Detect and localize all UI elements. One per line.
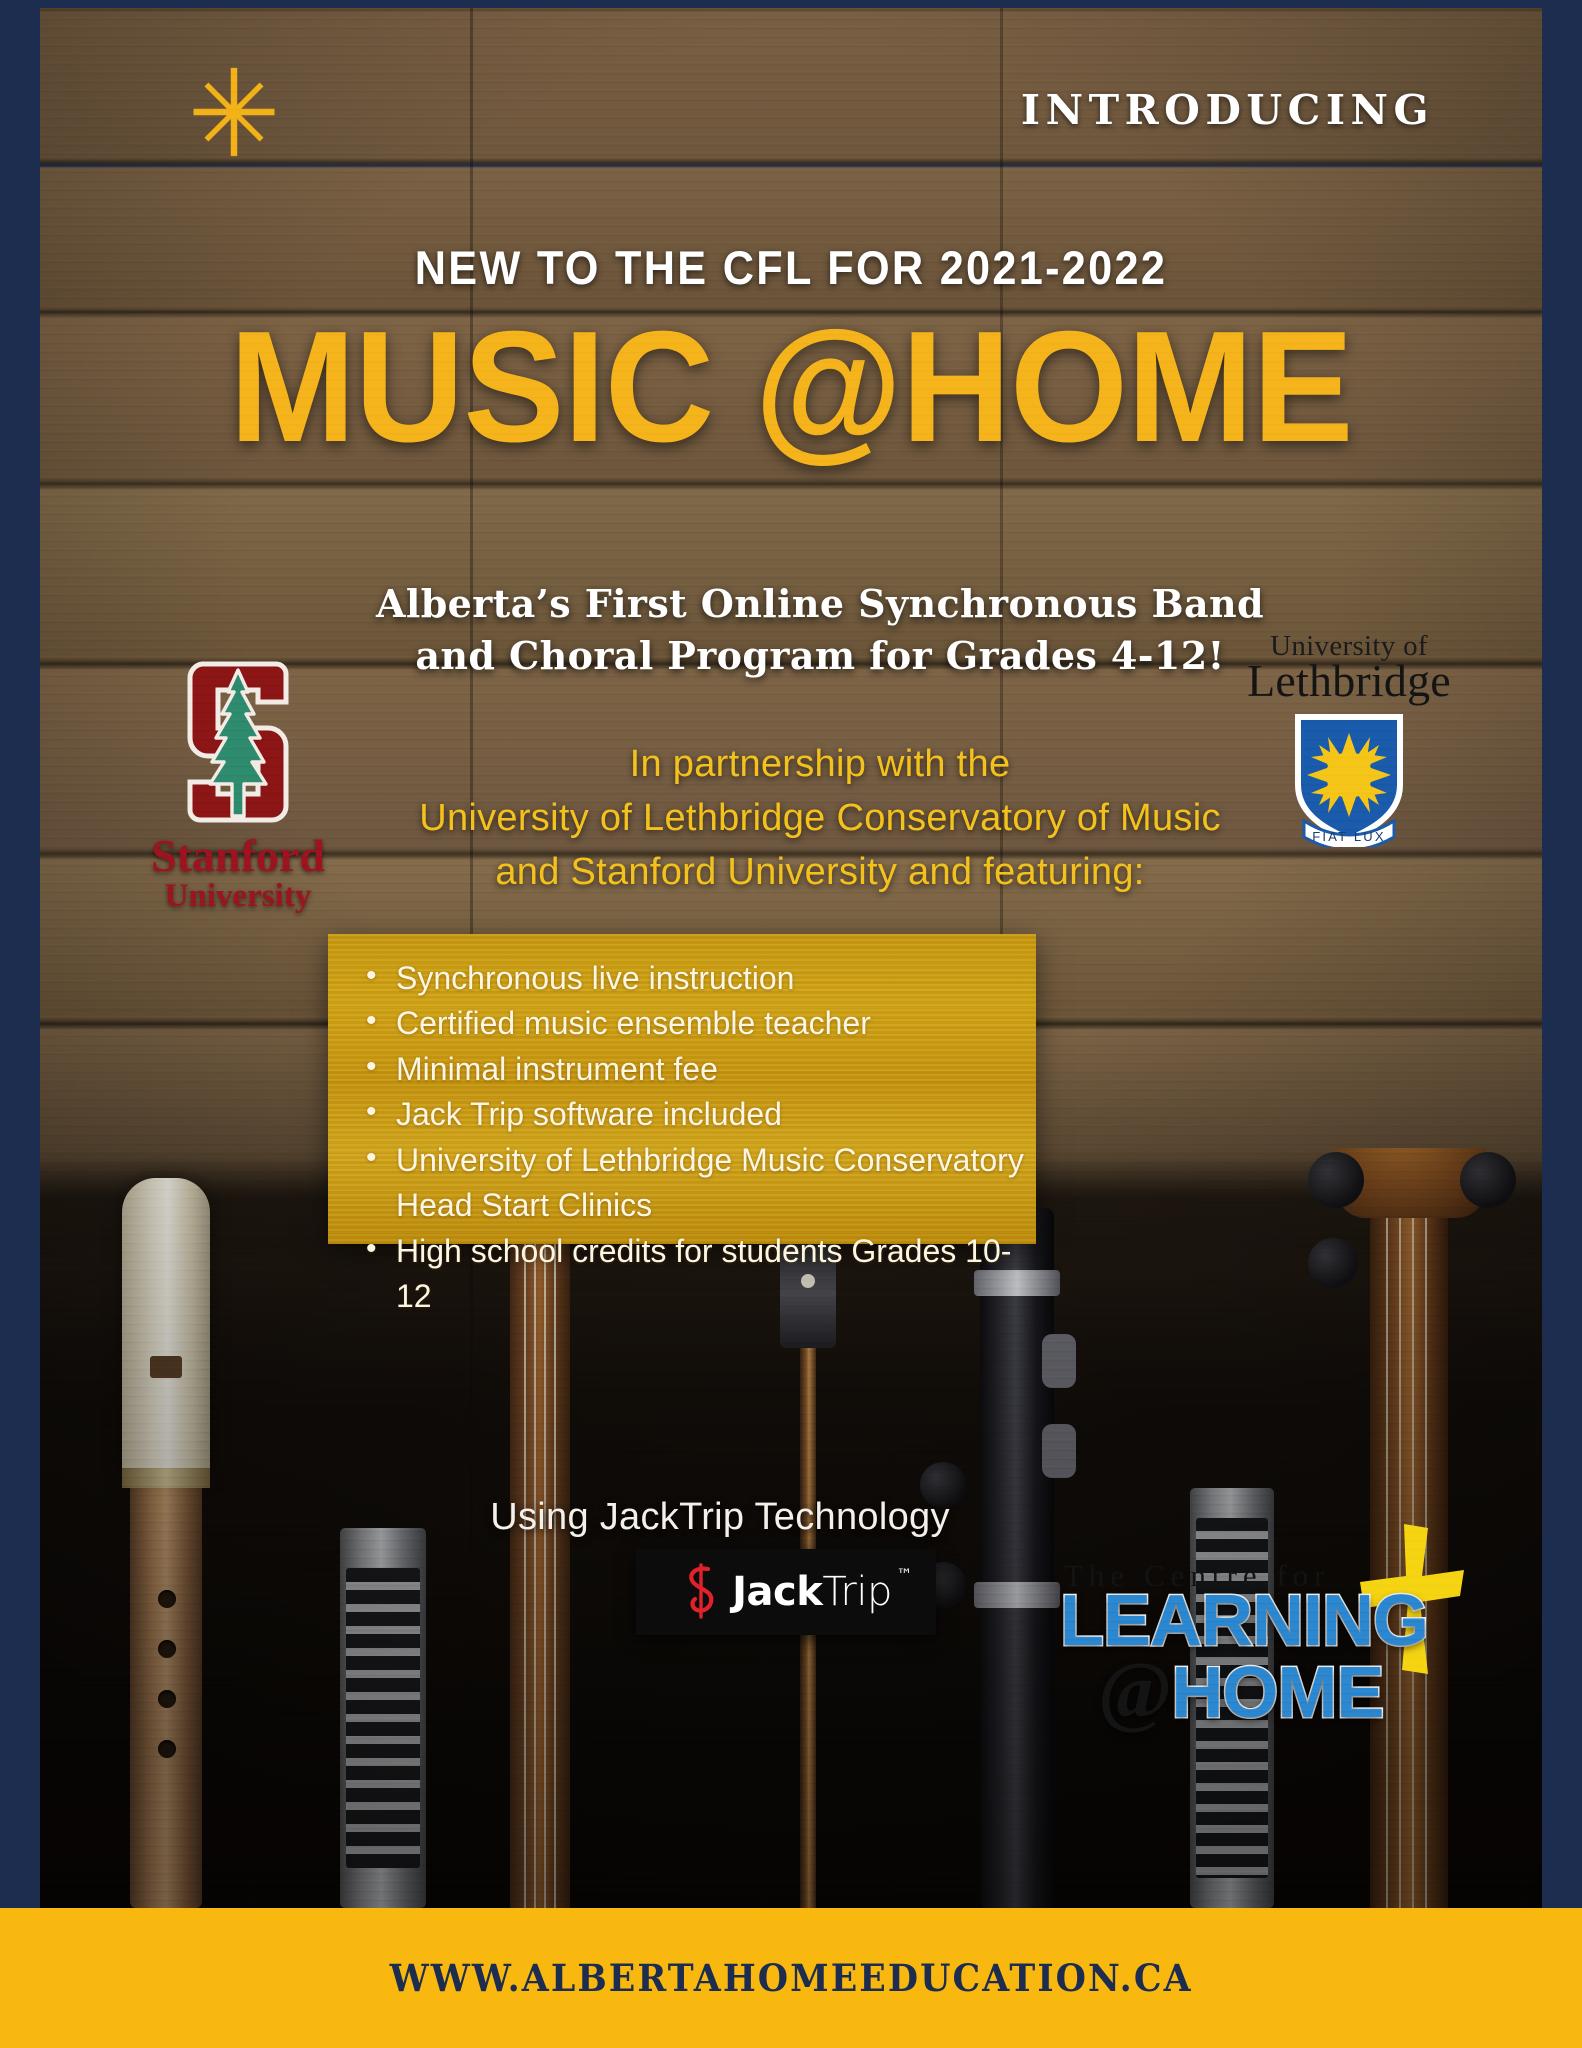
- lethbridge-wordmark-line-2: Lethbridge: [1244, 659, 1454, 703]
- recorder-window: [150, 1356, 182, 1378]
- violin-tuning-peg: [920, 1562, 966, 1608]
- clarinet-key: [1042, 1424, 1076, 1478]
- learning-at-home-word-1: LEARNING: [1060, 1590, 1428, 1653]
- violin-bow-stick: [800, 1268, 816, 1908]
- list-item: Jack Trip software included: [362, 1092, 1036, 1137]
- partnership-line-1: In partnership with the: [320, 738, 1320, 792]
- hero-subhead-line-2: and Choral Program for Grades 4-12!: [320, 630, 1320, 682]
- jacktrip-wordmark: JackTrip™: [732, 1569, 892, 1615]
- violin-bow-frog: [780, 1238, 836, 1348]
- harmonica-comb: [346, 1568, 420, 1868]
- list-item: Synchronous live instruction: [362, 956, 1036, 1001]
- lethbridge-logo: University of Lethbridge: [1244, 630, 1454, 847]
- recorder-mouthpiece: [122, 1178, 210, 1478]
- list-item: Minimal instrument fee: [362, 1047, 1036, 1092]
- harmonica-right: [1190, 1488, 1274, 1908]
- footer-bar: WWW.ALBERTAHOMEEDUCATION.CA: [0, 1908, 1582, 2048]
- cello-neck: [1370, 1188, 1448, 1908]
- list-item: Certified music ensemble teacher: [362, 1001, 1036, 1046]
- lethbridge-motto: FIAT LUX: [1312, 829, 1385, 844]
- partnership-line-3: and Stanford University and featuring:: [320, 846, 1320, 900]
- at-symbol: @: [1098, 1647, 1171, 1735]
- trademark-symbol: ™: [896, 1565, 912, 1584]
- stanford-wordmark: Stanford: [138, 834, 338, 878]
- violin-strings: [524, 1208, 556, 1908]
- partnership-text: In partnership with the University of Le…: [320, 738, 1320, 900]
- violin-neck: [510, 1208, 570, 1908]
- jacktrip-caption: Using JackTrip Technology: [370, 1496, 1070, 1539]
- jacktrip-word-bold: Jack: [732, 1569, 822, 1615]
- poster-root: INTRODUCING NEW TO THE CFL FOR 2021-2022…: [0, 0, 1582, 2048]
- clarinet-ring: [974, 1270, 1060, 1296]
- clarinet-ring: [974, 1582, 1060, 1608]
- yellow-cross-icon: [1358, 1524, 1466, 1674]
- recorder-ferrule: [122, 1468, 210, 1488]
- learning-at-home-row-2: @HOME: [1098, 1656, 1383, 1726]
- hero-subhead: Alberta’s First Online Synchronous Band …: [320, 578, 1320, 683]
- list-item: High school credits for students Grades …: [362, 1229, 1036, 1320]
- learning-at-home-word-2: HOME: [1171, 1653, 1383, 1733]
- recorder-body: [130, 1348, 202, 1908]
- lethbridge-shield-sun-icon: FIAT LUX: [1290, 711, 1408, 847]
- partnership-line-2: University of Lethbridge Conservatory of…: [320, 792, 1320, 846]
- eight-point-star-icon: [188, 66, 280, 158]
- cello-tuning-peg: [1308, 1152, 1364, 1208]
- website-url[interactable]: WWW.ALBERTAHOMEEDUCATION.CA: [389, 1956, 1192, 2000]
- stanford-logo: Stanford University: [138, 656, 338, 915]
- vignette-overlay: [40, 8, 1542, 1908]
- stanford-subwordmark: University: [138, 878, 338, 915]
- hero-subhead-line-1: Alberta’s First Online Synchronous Band: [320, 578, 1320, 630]
- cello-strings: [1386, 1188, 1432, 1908]
- list-item: University of Lethbridge Music Conservat…: [362, 1138, 1036, 1229]
- cello-tuning-peg: [1460, 1152, 1516, 1208]
- violin-tuning-peg: [920, 1462, 966, 1508]
- jacktrip-logo: JackTrip™: [636, 1549, 936, 1635]
- page-title: MUSIC @HOME: [70, 308, 1512, 466]
- clarinet-key: [1042, 1334, 1076, 1388]
- cello-scroll: [1336, 1148, 1486, 1218]
- hero-kicker: NEW TO THE CFL FOR 2021-2022: [100, 240, 1482, 295]
- features-panel: Synchronous live instruction Certified m…: [328, 934, 1036, 1244]
- features-list: Synchronous live instruction Certified m…: [328, 934, 1036, 1320]
- clarinet-body: [980, 1208, 1054, 1908]
- cello-tuning-peg: [1308, 1238, 1358, 1288]
- jacktrip-s-cable-icon: [680, 1563, 720, 1621]
- learning-at-home-tagline: The Centre for: [1064, 1558, 1330, 1594]
- instrument-photo-band: [40, 1148, 1542, 1908]
- recorder-tone-hole: [158, 1590, 176, 1608]
- introducing-label: INTRODUCING: [1021, 86, 1434, 134]
- harmonica-comb: [1196, 1518, 1268, 1878]
- recorder-tone-hole: [158, 1740, 176, 1758]
- recorder-tone-hole: [158, 1690, 176, 1708]
- jacktrip-word-light: Trip: [822, 1569, 892, 1615]
- learning-at-home-logo: The Centre for LEARNING @HOME: [1060, 1556, 1460, 1736]
- lethbridge-wordmark-line-1: University of: [1244, 630, 1454, 663]
- wood-background: INTRODUCING NEW TO THE CFL FOR 2021-2022…: [40, 8, 1542, 1908]
- violin-scroll: [488, 1148, 592, 1218]
- stanford-block-s-tree-icon: [172, 656, 304, 828]
- harmonica-left: [340, 1528, 426, 1908]
- bow-frog-eye: [801, 1274, 815, 1288]
- recorder-tone-hole: [158, 1640, 176, 1658]
